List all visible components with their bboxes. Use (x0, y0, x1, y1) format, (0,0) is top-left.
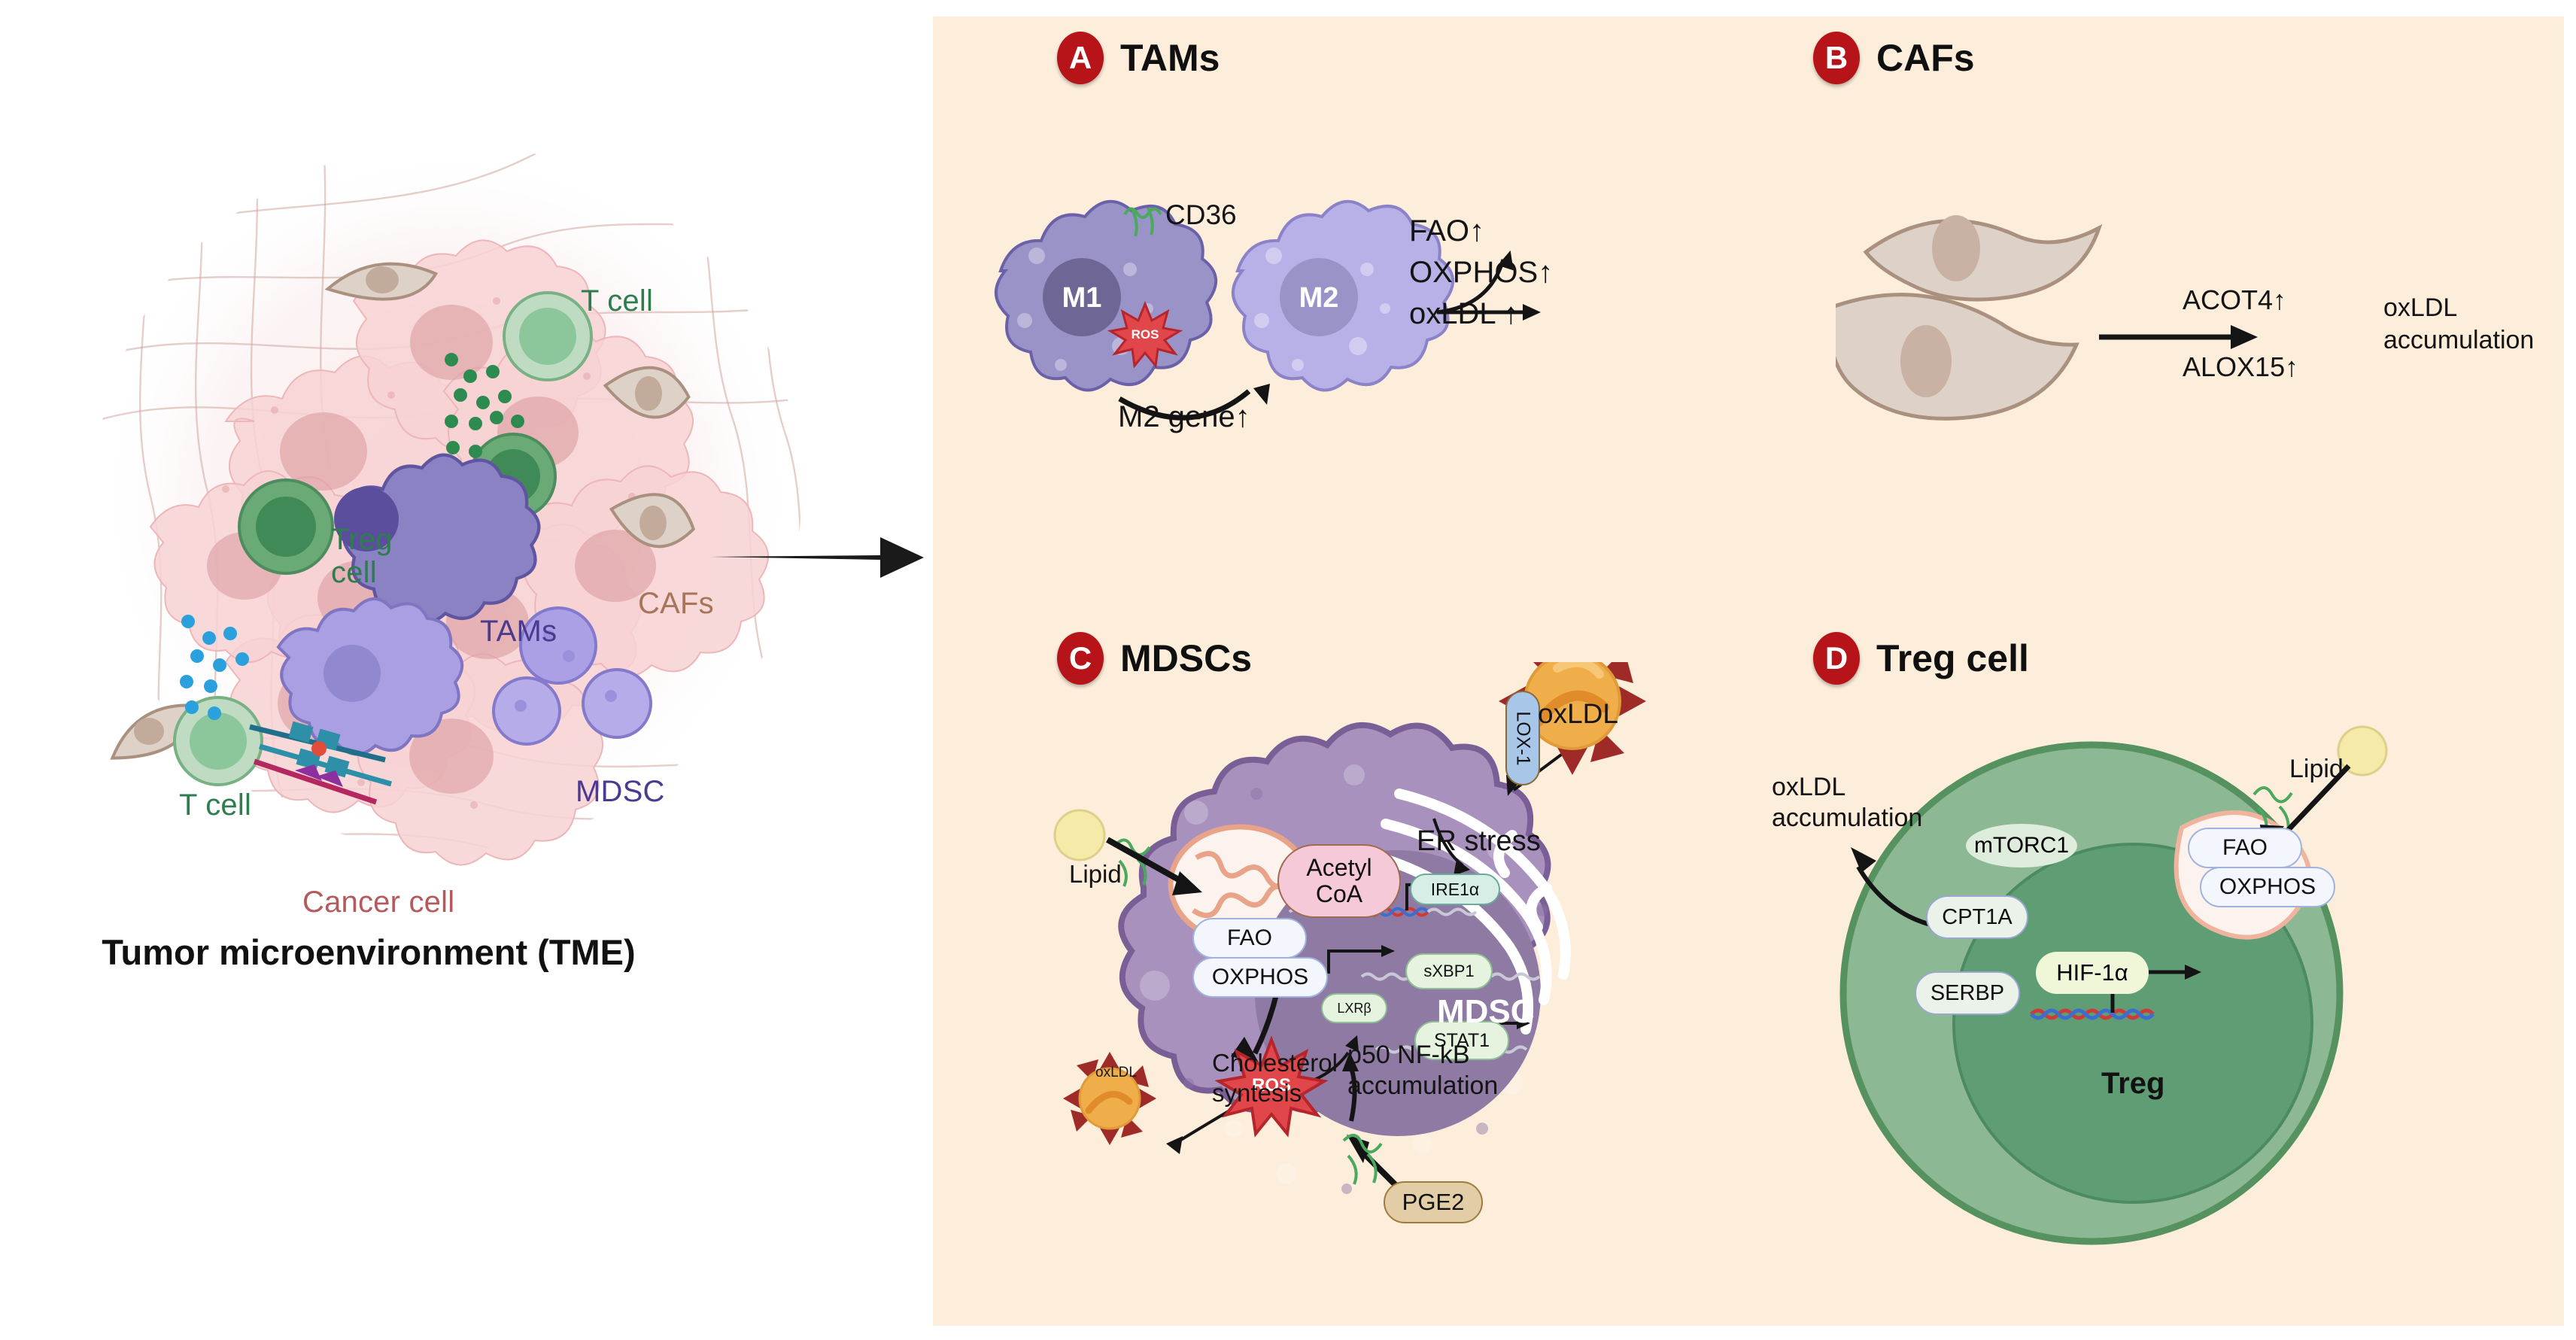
tumor-microenvironment-illustration (0, 0, 927, 1340)
tme-label-mdsc: MDSC (576, 775, 665, 809)
stromal-fibers (75, 98, 850, 869)
panel-d-fao-pill: FAO (2188, 828, 2302, 868)
cholesterol-line1: Cholesterol (1212, 1048, 1338, 1078)
panel-c-sxbp1-pill: sXBP1 (1405, 953, 1493, 989)
caf-cell-lower (1836, 295, 2076, 419)
panel-c-lipid-label: Lipid (1069, 860, 1122, 889)
panel-b-reaction-arrow (2099, 325, 2258, 349)
panel-c-er-stress-label: ER stress (1417, 825, 1541, 858)
acetyl-line1: Acetyl (1306, 855, 1372, 881)
caf-cells (102, 257, 701, 773)
panel-c-lxrb-pill: LXRβ (1321, 993, 1387, 1023)
tme-label-treg-cell: Treg cell (331, 523, 393, 589)
tme-label-tams: TAMs (480, 615, 557, 649)
panel-c-nfkb-label: p50 NF-kB accumulation (1347, 1040, 1498, 1102)
panel-b-result: oxLDL accumulation (2383, 292, 2534, 356)
panel-d-hif1a-pill: HIF-1α (2036, 952, 2149, 994)
panel-b-header: B CAFs (1813, 32, 1975, 84)
panel-c-cholesterol-label: Cholesterol syntesis (1212, 1048, 1338, 1108)
lox1-text: LOX-1 (1512, 711, 1534, 765)
panel-d-cell-label: Treg (2101, 1067, 2164, 1101)
panel-a-title: TAMs (1120, 36, 1220, 80)
treg-label-line2: cell (331, 556, 393, 589)
cholesterol-line2: syntesis (1212, 1078, 1338, 1108)
panel-a-outputs: FAO↑ OXPHOS↑ oxLDL ↑ (1409, 211, 1553, 336)
tcr-synapse (250, 722, 391, 802)
panel-b-result-line2: accumulation (2383, 324, 2534, 357)
panel-c-illustration: ROS (1046, 662, 1663, 1249)
panel-d-oxldl-line2: accumulation (1772, 803, 1922, 834)
panel-a-cd36-label: CD36 (1165, 199, 1237, 231)
panel-c-oxldl-right-label: oxLDL (1538, 698, 1618, 730)
m1-label: M1 (1062, 282, 1102, 314)
panel-c-pge2-pill: PGE2 (1384, 1181, 1483, 1223)
panel-b-alox15-label: ALOX15↑ (2183, 351, 2298, 383)
panel-d-title: Treg cell (1876, 637, 2029, 680)
tme-panel: T cell Treg cell TAMs CAFs MDSC T cell C… (0, 0, 927, 1340)
blue-granules (180, 615, 249, 720)
panel-c-oxldl-left-label: oxLDL (1095, 1065, 1137, 1081)
panel-d-lipid-label: Lipid (2289, 755, 2344, 784)
panel-b-acot4-label: ACOT4↑ (2183, 284, 2286, 316)
tme-caption: Tumor microenvironment (TME) (98, 931, 639, 973)
lipid-droplet-icon (1055, 810, 1104, 860)
panel-c-lox1-receptor: LOX-1 (1505, 691, 1540, 785)
panel-a-output-oxphos: OXPHOS↑ (1409, 252, 1553, 293)
caf-cell-upper (1866, 215, 2099, 299)
panel-c-cell-label: MDSC (1437, 993, 1535, 1031)
treg-label-line1: Treg (331, 523, 393, 556)
panel-b-result-line1: oxLDL (2383, 292, 2534, 324)
acetyl-line2: CoA (1316, 881, 1362, 907)
caf-nuclei (134, 266, 667, 745)
panel-d-oxphos-pill: OXPHOS (2200, 867, 2335, 907)
panel-d-mtorc1-pill: mTORC1 (1966, 824, 2077, 868)
panel-a-badge: A (1057, 32, 1104, 84)
panel-b-title: CAFs (1876, 36, 1975, 80)
panel-c-oxphos-pill: OXPHOS (1192, 957, 1328, 998)
tme-label-cancer-cell: Cancer cell (302, 886, 454, 919)
panel-a-m2gene-label: M2 gene↑ (1118, 400, 1250, 434)
svg-text:ROS: ROS (1132, 327, 1159, 342)
tme-label-t-cell-top: T cell (581, 284, 653, 318)
panel-b-badge: B (1813, 32, 1860, 84)
tme-label-t-cell-bottom: T cell (179, 789, 251, 822)
tme-to-panels-arrow (707, 527, 925, 587)
m2-label: M2 (1299, 282, 1339, 314)
panel-d-oxldl-label: oxLDL accumulation (1772, 772, 1922, 834)
panel-d-badge: D (1813, 632, 1860, 685)
nfkb-line2: accumulation (1347, 1071, 1498, 1101)
panel-a-output-fao: FAO↑ (1409, 211, 1553, 252)
panel-c-fao-pill: FAO (1192, 918, 1307, 959)
green-granules (445, 353, 524, 458)
tme-label-cafs: CAFs (638, 587, 714, 621)
panel-c-acetyl-coa-pill: Acetyl CoA (1277, 844, 1401, 918)
panel-d-cpt1a-pill: CPT1A (1926, 895, 2028, 939)
panel-d-serbp-pill: SERBP (1915, 971, 2020, 1015)
cancer-cell-cluster (150, 240, 768, 864)
panel-b-illustration (1836, 173, 2407, 444)
panel-d-header: D Treg cell (1813, 632, 2029, 685)
tam-cells (278, 455, 539, 755)
panel-a-header: A TAMs (1057, 32, 1220, 84)
panel-a-output-oxldl: oxLDL ↑ (1409, 293, 1553, 335)
panel-c-ire1a-pill: IRE1α (1410, 874, 1500, 905)
panel-d-oxldl-line1: oxLDL (1772, 772, 1922, 803)
nfkb-line1: p50 NF-kB (1347, 1040, 1498, 1071)
